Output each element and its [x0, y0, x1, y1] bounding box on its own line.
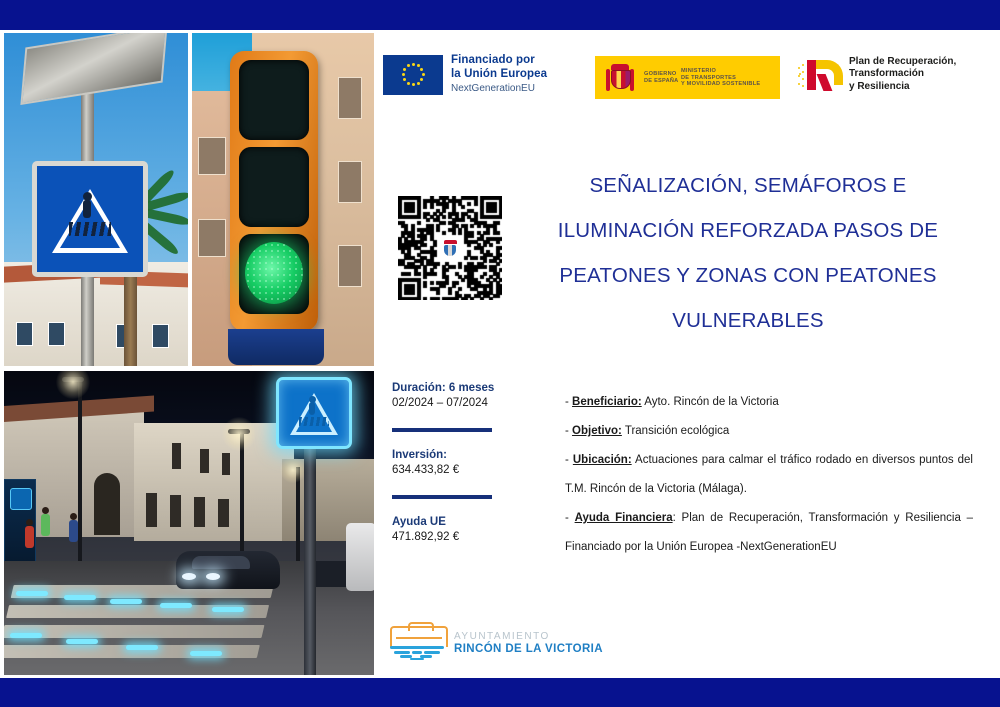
- crosswalk-sign-icon: [32, 161, 148, 277]
- project-description: - Beneficiario: Ayto. Rincón de la Victo…: [565, 388, 973, 562]
- inversion-value: 634.433,82 €: [392, 463, 528, 478]
- top-navy-band: [0, 0, 1000, 30]
- plan-line2: Transformación: [849, 68, 956, 80]
- illuminated-crosswalk-sign-icon: [276, 377, 352, 449]
- title-line-2: ILUMINACIÓN REFORZADA PASOS DE: [500, 208, 996, 253]
- ayuntamiento-line2: RINCÓN DE LA VICTORIA: [454, 643, 603, 656]
- project-facts: Duración: 6 meses 02/2024 – 07/2024 Inve…: [392, 381, 528, 545]
- eu-logo-line2: la Unión Europea: [451, 68, 547, 82]
- poster-page: Financiado por la Unión Europea NextGene…: [0, 0, 1000, 707]
- traffic-light-housing: [230, 51, 318, 331]
- plan-line1: Plan de Recuperación,: [849, 56, 956, 68]
- divider-2: [392, 495, 492, 499]
- bottom-navy-band: [0, 678, 1000, 707]
- qr-code[interactable]: [398, 196, 502, 300]
- funding-logos-row: Financiado por la Unión Europea NextGene…: [380, 53, 996, 111]
- plan-recuperacion-logo: Plan de Recuperación, Transformación y R…: [798, 56, 956, 93]
- amber-lens-icon: [239, 147, 309, 227]
- ministerio-line2: DE TRANSPORTES: [681, 75, 760, 82]
- ayuda-ue-label: Ayuda UE: [392, 515, 528, 530]
- photo-pedestrian-crossing-sign: [4, 33, 188, 366]
- escudo-espana-icon: [605, 63, 635, 93]
- gobierno-de-espana-logo: GOBIERNO DE ESPAÑA MINISTERIO DE TRANSPO…: [595, 56, 780, 99]
- ayuntamiento-line1: AYUNTAMIENTO: [454, 631, 603, 643]
- duracion-value: 02/2024 – 07/2024: [392, 396, 528, 411]
- plan-recuperacion-icon: [798, 57, 842, 93]
- crosswalk-stripes: [4, 585, 284, 669]
- escudo-rincon-icon: [438, 236, 462, 260]
- eu-flag-icon: [383, 55, 443, 95]
- car-with-headlights: [176, 551, 280, 589]
- gobierno-line2: DE ESPAÑA: [644, 78, 678, 85]
- divider-1: [392, 428, 492, 432]
- ayuntamiento-logo: AYUNTAMIENTO RINCÓN DE LA VICTORIA: [388, 625, 603, 661]
- ayuntamiento-building-icon: [388, 625, 446, 661]
- inversion-label: Inversión:: [392, 448, 528, 463]
- desc-ayuda-financiera: - Ayuda Financiera: Plan de Recuperación…: [565, 504, 973, 562]
- ministerio-line3: Y MOVILIDAD SOSTENIBLE: [681, 81, 760, 88]
- title-line-1: SEÑALIZACIÓN, SEMÁFOROS E: [500, 163, 996, 208]
- duracion-label: Duración: 6 meses: [392, 381, 528, 396]
- desc-beneficiario: - Beneficiario: Ayto. Rincón de la Victo…: [565, 388, 973, 417]
- photo-collage: [4, 33, 374, 675]
- desc-objetivo: - Objetivo: Transición ecológica: [565, 417, 973, 446]
- ministerio-line1: MINISTERIO: [681, 68, 760, 75]
- eu-logo-line1: Financiado por: [451, 54, 547, 68]
- green-lens-icon: [239, 234, 309, 314]
- desc-ubicacion: - Ubicación: Actuaciones para calmar el …: [565, 446, 973, 504]
- content-column: Financiado por la Unión Europea NextGene…: [380, 33, 996, 675]
- eu-logo-line3: NextGenerationEU: [451, 82, 547, 95]
- page-title: SEÑALIZACIÓN, SEMÁFOROS E ILUMINACIÓN RE…: [500, 163, 996, 343]
- title-line-3: PEATONES Y ZONAS CON PEATONES: [500, 253, 996, 298]
- photo-traffic-light: [192, 33, 374, 366]
- gobierno-line1: GOBIERNO: [644, 71, 678, 78]
- red-lens-icon: [239, 60, 309, 140]
- photo-night-crossing: [4, 371, 374, 675]
- eu-funding-logo: Financiado por la Unión Europea NextGene…: [383, 54, 547, 95]
- title-line-4: VULNERABLES: [500, 298, 996, 343]
- ayuda-ue-value: 471.892,92 €: [392, 530, 528, 545]
- plan-line3: y Resiliencia: [849, 81, 956, 93]
